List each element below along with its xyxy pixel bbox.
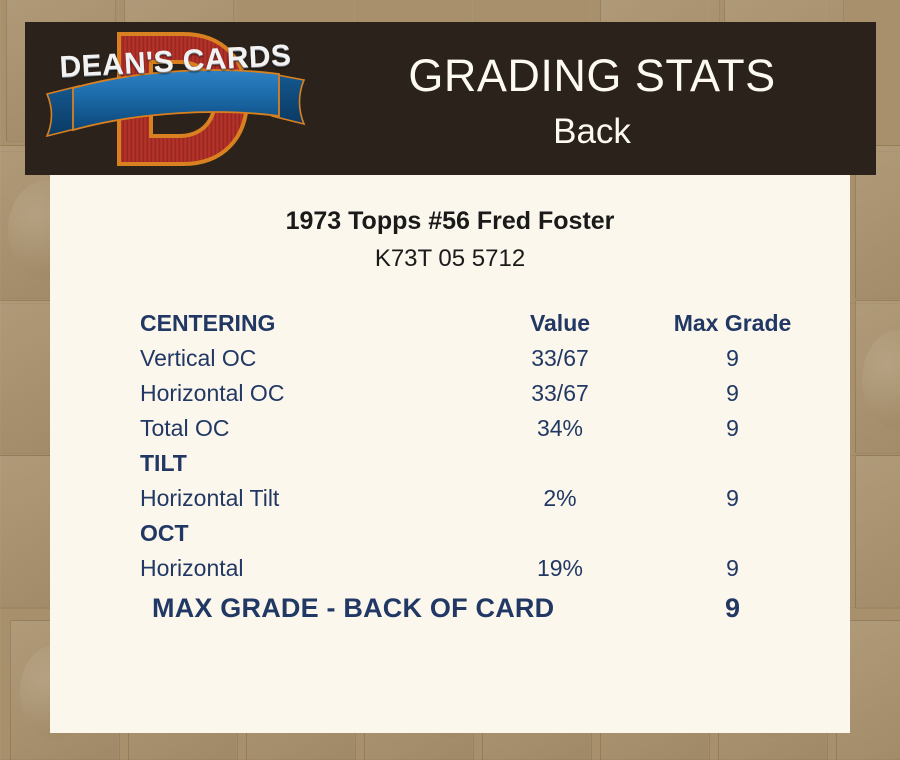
table-row-section-header: TILT: [140, 446, 815, 481]
stat-value: 2%: [470, 481, 650, 516]
column-header-value: Value: [470, 306, 650, 341]
page-subtitle: Back: [308, 114, 876, 151]
max-grade-summary: MAX GRADE - BACK OF CARD 9: [140, 588, 815, 628]
table-row: Vertical OC 33/67 9: [140, 341, 815, 376]
section-spacer: [470, 446, 650, 481]
section-spacer: [470, 516, 650, 551]
max-grade-label: MAX GRADE - BACK OF CARD: [152, 588, 554, 628]
section-label-centering: CENTERING: [140, 306, 470, 341]
stat-grade: 9: [650, 341, 815, 376]
stat-grade: 9: [650, 551, 815, 586]
table-row: Horizontal 19% 9: [140, 551, 815, 586]
section-label-tilt: TILT: [140, 446, 470, 481]
stat-label: Horizontal: [140, 551, 470, 586]
table-row: Horizontal OC 33/67 9: [140, 376, 815, 411]
page-root: DEAN'S CARDS GRADING STATS Back 1973 Top…: [0, 0, 900, 760]
table-row: Total OC 34% 9: [140, 411, 815, 446]
table-row-section-header: CENTERING Value Max Grade: [140, 306, 815, 341]
stat-grade: 9: [650, 376, 815, 411]
logo-ribbon-icon: [43, 68, 308, 140]
card-serial: K73T 05 5712: [50, 245, 850, 273]
max-grade-value: 9: [650, 588, 815, 628]
stat-value: 33/67: [470, 341, 650, 376]
stat-grade: 9: [650, 411, 815, 446]
stat-grade: 9: [650, 481, 815, 516]
header-bar: DEAN'S CARDS GRADING STATS Back: [25, 22, 876, 175]
page-title: GRADING STATS: [308, 52, 876, 99]
grading-stats-table: CENTERING Value Max Grade Vertical OC 33…: [140, 306, 815, 586]
stat-label: Horizontal OC: [140, 376, 470, 411]
stat-label: Horizontal Tilt: [140, 481, 470, 516]
deans-cards-logo[interactable]: DEAN'S CARDS: [43, 26, 308, 171]
stat-value: 33/67: [470, 376, 650, 411]
stats-table-body: CENTERING Value Max Grade Vertical OC 33…: [140, 306, 815, 586]
card-title: 1973 Topps #56 Fred Foster: [50, 207, 850, 236]
section-spacer: [650, 446, 815, 481]
column-header-max-grade: Max Grade: [650, 306, 815, 341]
stat-value: 34%: [470, 411, 650, 446]
section-spacer: [650, 516, 815, 551]
section-label-oct: OCT: [140, 516, 470, 551]
content-panel: 1973 Topps #56 Fred Foster K73T 05 5712 …: [50, 175, 850, 733]
table-row-section-header: OCT: [140, 516, 815, 551]
stat-label: Total OC: [140, 411, 470, 446]
table-row: Horizontal Tilt 2% 9: [140, 481, 815, 516]
stat-value: 19%: [470, 551, 650, 586]
stat-label: Vertical OC: [140, 341, 470, 376]
background-card-tile: [855, 455, 900, 609]
